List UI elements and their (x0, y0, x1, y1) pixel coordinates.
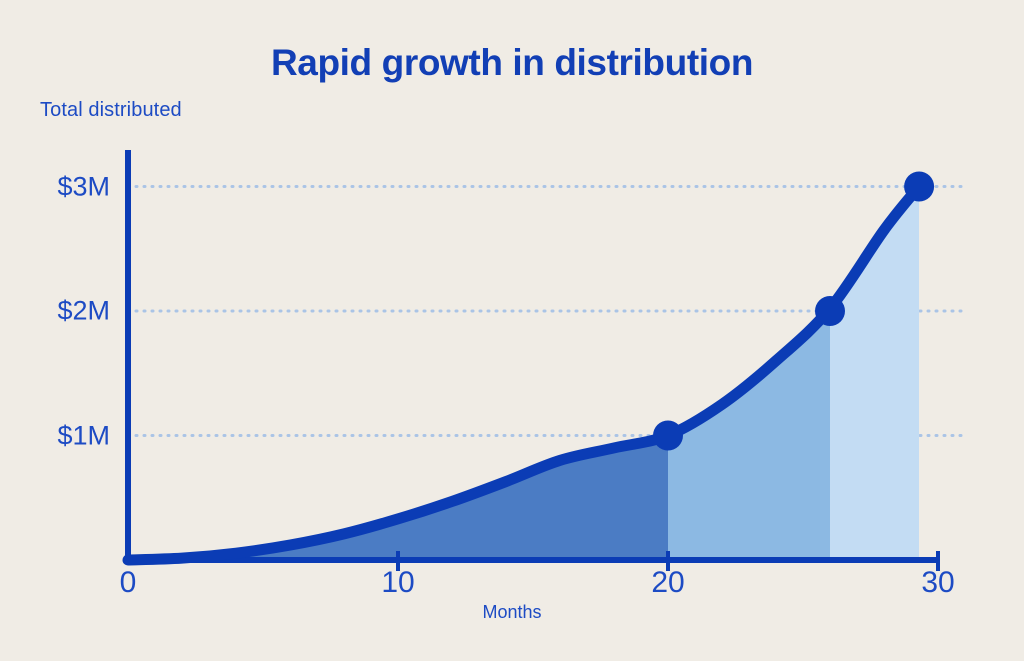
data-point-marker-0[interactable] (653, 421, 683, 451)
y-tick-label-0: $1M (15, 420, 110, 451)
data-point-marker-2[interactable] (904, 172, 934, 202)
y-tick-label-1: $2M (15, 296, 110, 327)
data-point-marker-1[interactable] (815, 296, 845, 326)
x-tick-label-3: 30 (898, 566, 978, 600)
area-fill-group (128, 187, 919, 561)
x-tick-label-0: 0 (88, 566, 168, 600)
chart-canvas: Rapid growth in distribution Total distr… (0, 0, 1024, 661)
plot-area (0, 0, 1024, 661)
x-axis-label: Months (0, 602, 1024, 623)
x-tick-label-1: 10 (358, 566, 438, 600)
x-tick-label-2: 20 (628, 566, 708, 600)
y-tick-label-2: $3M (15, 171, 110, 202)
